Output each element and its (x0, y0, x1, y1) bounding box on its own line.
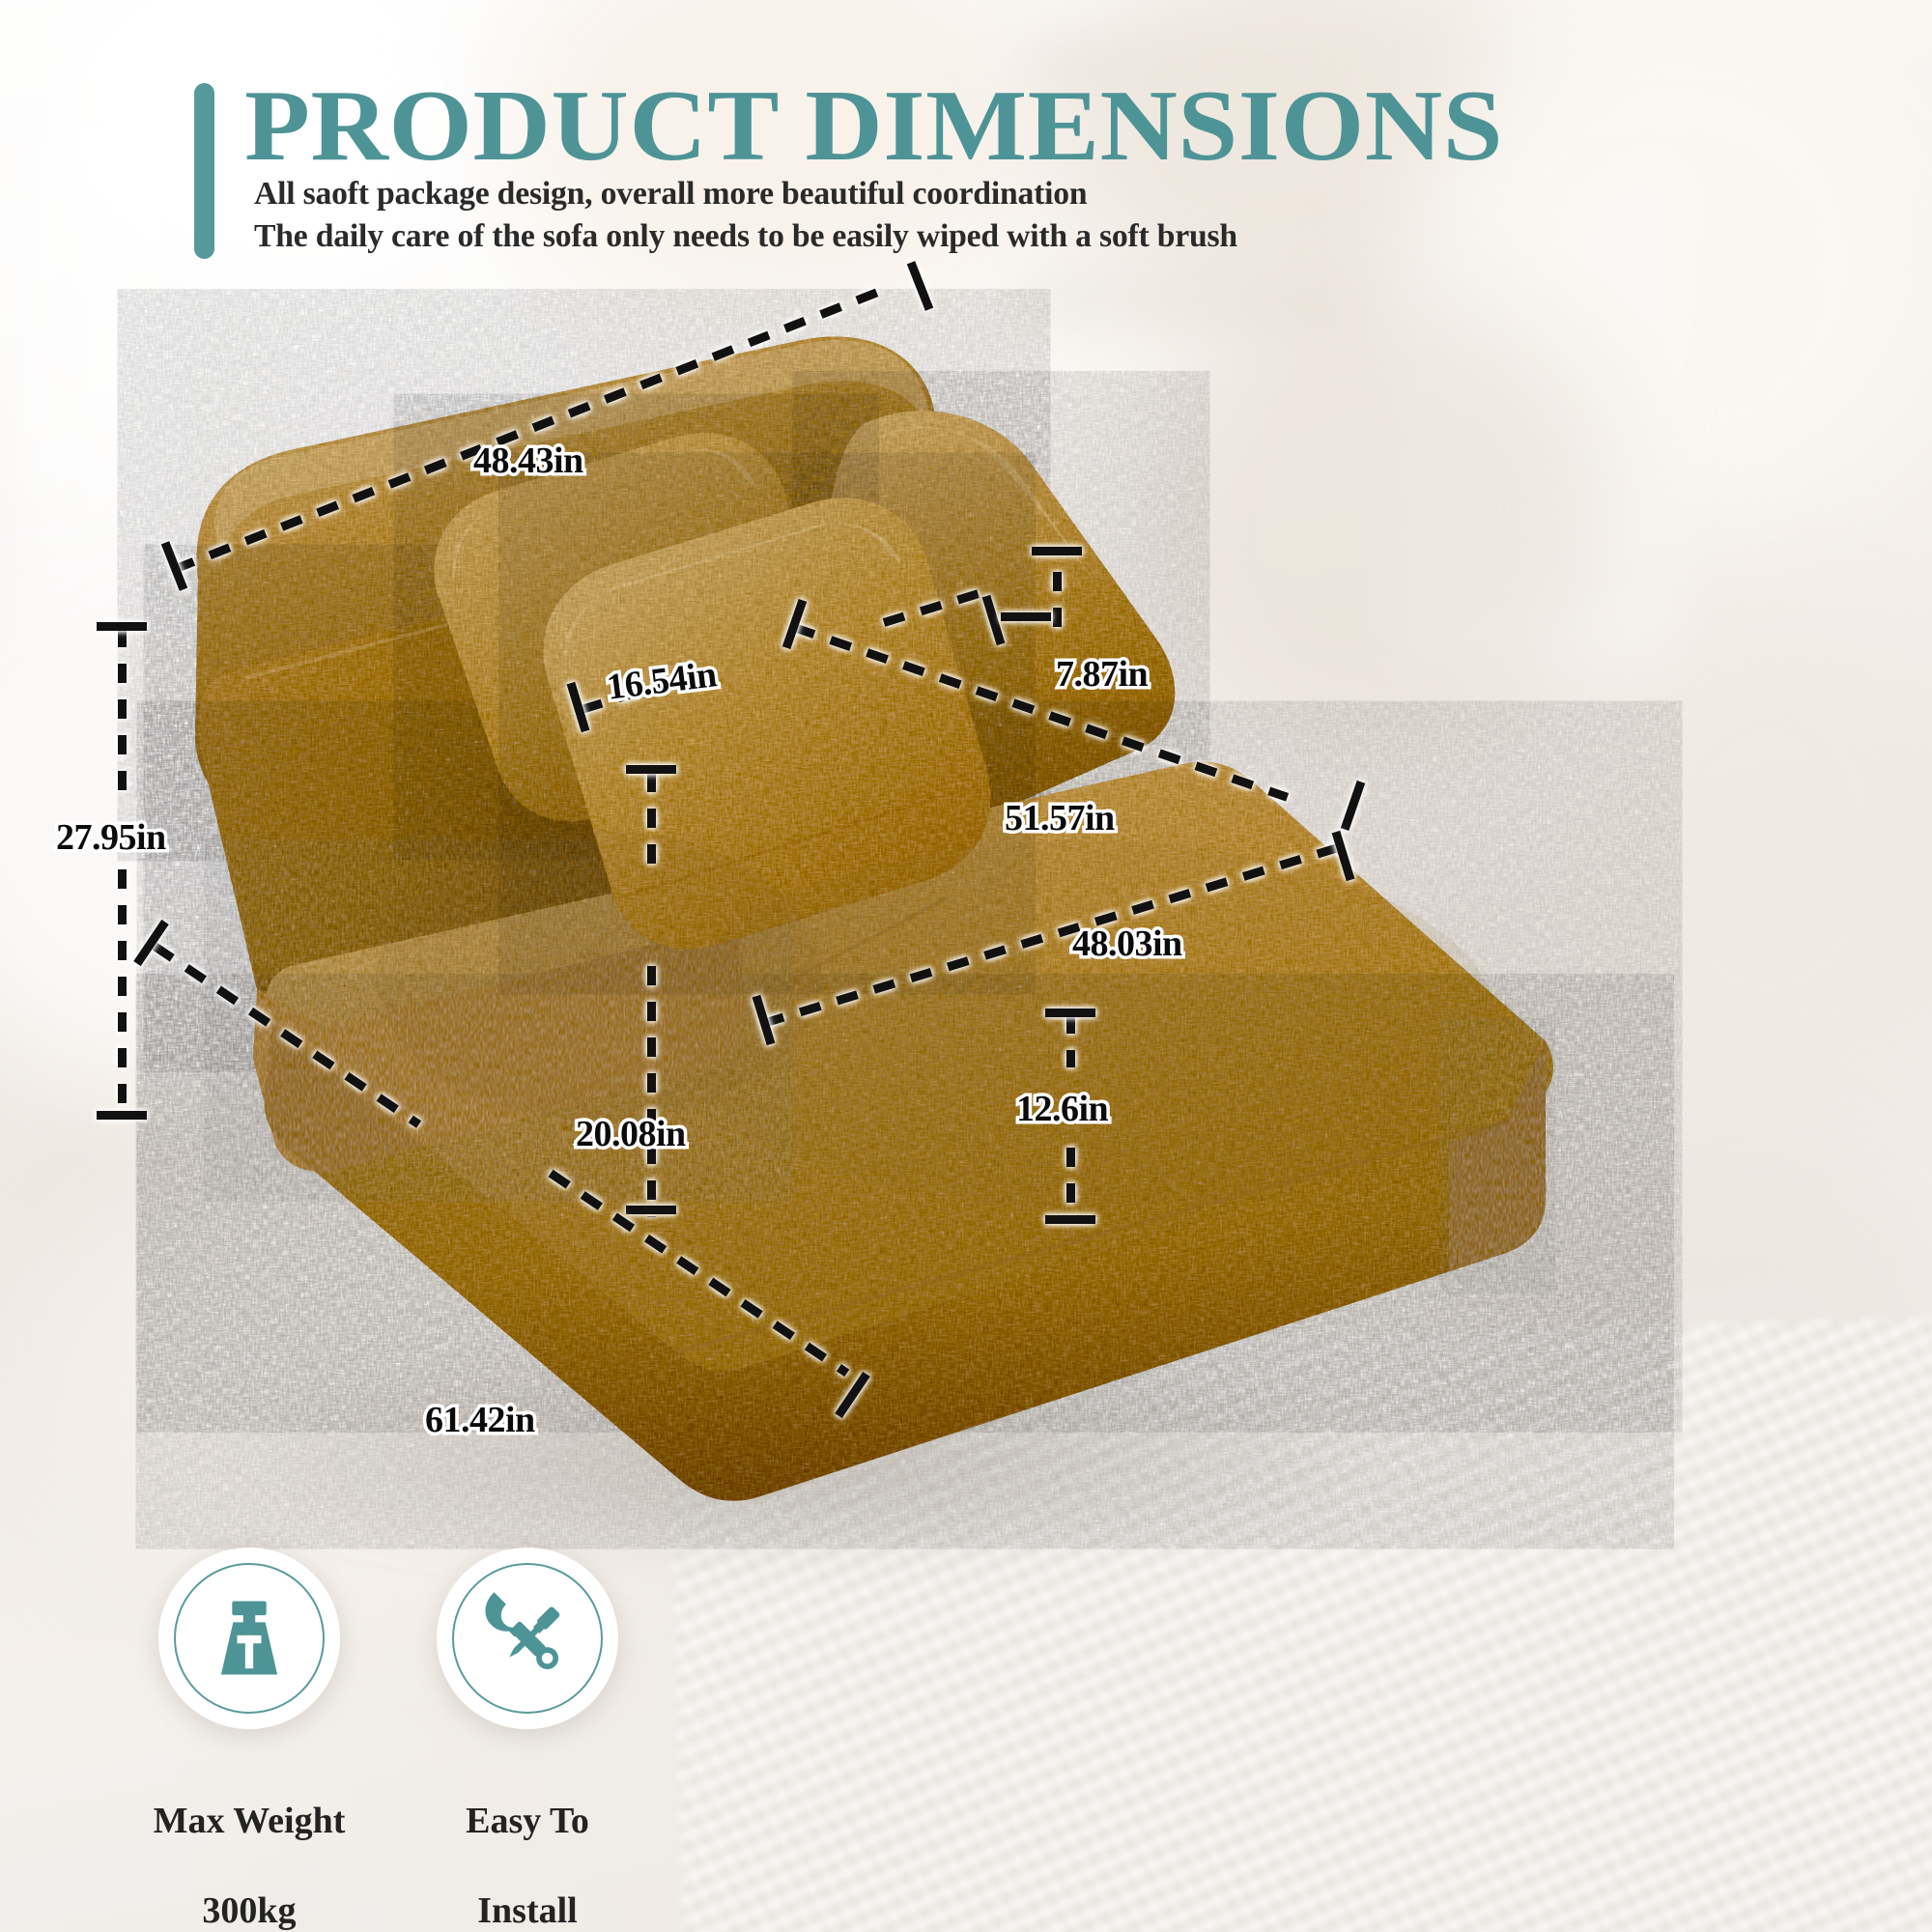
dim-cap-12-6-top (1045, 1009, 1095, 1017)
feature-caption-line-2: Install (383, 1889, 672, 1932)
dim-cap-12-6-bottom (1045, 1215, 1095, 1224)
dim-line-27-95-lower (118, 869, 127, 1111)
dim-label-51-57: 51.57in (1005, 797, 1115, 839)
dim-line-20-08-lower (647, 966, 656, 1217)
feature-easy-install: Easy To Install (383, 1548, 672, 1932)
dim-line-12-6-upper (1066, 1014, 1075, 1067)
dim-label-7-87: 7.87in (1056, 653, 1148, 696)
feature-caption-max-weight: Max Weight 300kg (104, 1754, 394, 1932)
feature-caption-easy-install: Easy To Install (383, 1754, 672, 1932)
feature-icon-circle-tools (437, 1548, 618, 1729)
dim-line-27-95-upper (118, 628, 127, 792)
dim-cap-20-08-top (626, 765, 676, 774)
dim-label-61-42: 61.42in (425, 1399, 535, 1441)
dim-cap-7-87-bottom (1001, 612, 1051, 621)
dim-line-20-08-upper (647, 773, 656, 879)
sofa-body (195, 336, 1553, 1500)
dim-line-12-6-lower (1066, 1148, 1075, 1220)
dim-cap-27-95-top (97, 622, 147, 631)
weight-icon (199, 1588, 299, 1689)
dim-label-27-95: 27.95in (56, 816, 166, 859)
feature-caption-line-2: 300kg (104, 1889, 394, 1932)
seat-left-shading (377, 831, 821, 1121)
dim-label-48-43: 48.43in (473, 440, 583, 482)
feature-caption-line-1: Max Weight (104, 1799, 394, 1843)
dim-line-7-87 (1053, 572, 1062, 630)
feature-icon-circle-weight (158, 1548, 340, 1729)
dim-label-48-03: 48.03in (1072, 923, 1182, 965)
feature-caption-line-1: Easy To (383, 1799, 672, 1843)
feature-max-weight: Max Weight 300kg (104, 1548, 394, 1932)
dim-label-12-6: 12.6in (1016, 1088, 1108, 1130)
dim-cap-20-08-bottom (626, 1206, 676, 1214)
dim-label-20-08: 20.08in (576, 1113, 686, 1155)
tools-icon (477, 1588, 578, 1689)
dim-cap-7-87-top (1032, 547, 1082, 555)
dim-cap-27-95-bottom (97, 1111, 147, 1120)
